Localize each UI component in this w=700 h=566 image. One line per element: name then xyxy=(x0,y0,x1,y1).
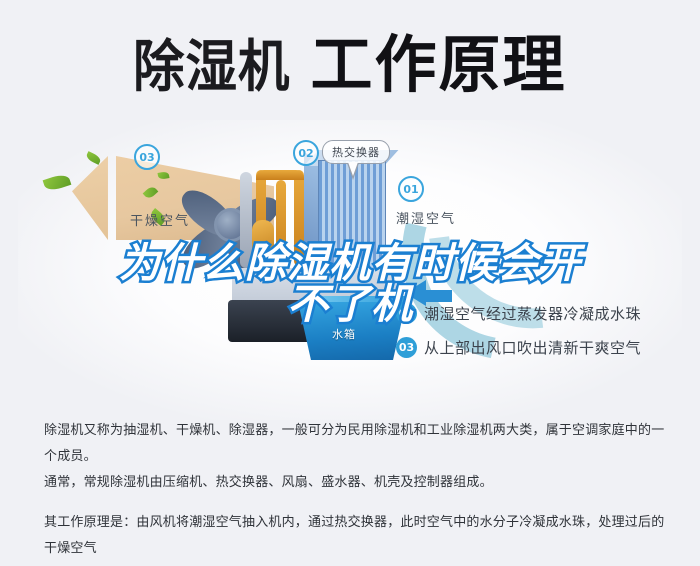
humid-air-label: 潮湿空气 xyxy=(396,208,456,227)
coil-tube xyxy=(294,170,304,266)
page-title-part1: 除湿机 xyxy=(133,40,290,96)
page-title-part2: 工作原理 xyxy=(310,34,566,96)
legend-text-03: 从上部出风口吹出清新干爽空气 xyxy=(424,337,641,358)
diagram-legend: 02 潮湿空气经过蒸发器冷凝成水珠 03 从上部出风口吹出清新干爽空气 xyxy=(396,296,696,364)
diagram-badge-01: 01 xyxy=(398,176,424,202)
body-p1-line1: 除湿机又称为抽湿机、干燥机、除湿器，一般可分为民用除湿机和工业除湿机两大类，属于… xyxy=(44,423,664,464)
coolant-pipe xyxy=(240,172,252,268)
dry-air-label: 干燥空气 xyxy=(130,210,190,229)
compressor-cylinder xyxy=(252,220,274,268)
legend-text-02: 潮湿空气经过蒸发器冷凝成水珠 xyxy=(424,303,641,324)
legend-badge-03: 03 xyxy=(396,337,417,358)
body-p1-line2: 通常，常规除湿机由压缩机、热交换器、风扇、盛水器、机壳及控制器组成。 xyxy=(44,475,493,490)
legend-item: 03 从上部出风口吹出清新干爽空气 xyxy=(396,330,696,364)
body-copy: 除湿机又称为抽湿机、干燥机、除湿器，一般可分为民用除湿机和工业除湿机两大类，属于… xyxy=(44,418,668,566)
coil-tube xyxy=(276,180,286,268)
body-paragraph-1: 除湿机又称为抽湿机、干燥机、除湿器，一般可分为民用除湿机和工业除湿机两大类，属于… xyxy=(44,418,668,496)
body-p2-line1: 其工作原理是：由风机将潮湿空气抽入机内，通过热交换器，此时空气中的水分子冷凝成水… xyxy=(44,515,664,556)
diagram-badge-02: 02 xyxy=(293,140,319,166)
leaf-icon xyxy=(43,172,72,192)
page-header: 除湿机 工作原理 xyxy=(0,22,700,108)
body-paragraph-2: 其工作原理是：由风机将潮湿空气抽入机内，通过热交换器，此时空气中的水分子冷凝成水… xyxy=(44,510,668,566)
diagram-badge-03: 03 xyxy=(134,144,160,170)
water-tank-label: 水箱 xyxy=(332,326,356,342)
legend-item: 02 潮湿空气经过蒸发器冷凝成水珠 xyxy=(396,296,696,330)
legend-badge-02: 02 xyxy=(396,303,417,324)
infographic-page: 除湿机 工作原理 xyxy=(0,0,700,566)
heat-exchanger-callout: 热交换器 xyxy=(322,140,390,164)
coil-tube xyxy=(256,170,304,180)
page-title: 除湿机 工作原理 xyxy=(133,34,566,96)
